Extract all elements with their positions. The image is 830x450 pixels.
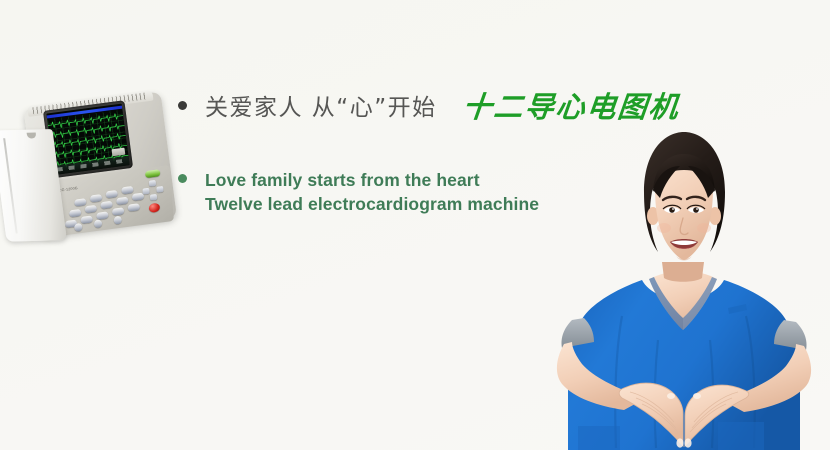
bullet-green-icon — [178, 174, 187, 183]
subline-english: Love family starts from the heart Twelve… — [205, 168, 539, 216]
keypad-key[interactable] — [121, 186, 133, 194]
keypad-dpad-up[interactable] — [149, 180, 156, 187]
keypad-key[interactable] — [106, 190, 118, 198]
keypad-key[interactable] — [100, 201, 112, 209]
paper-tray-seam — [3, 138, 18, 233]
keypad-stop-button[interactable] — [149, 203, 161, 213]
keypad-key[interactable] — [90, 194, 102, 202]
keypad-start-button[interactable] — [145, 169, 160, 178]
product-name-chinese: 十二导心电图机 — [460, 84, 681, 126]
keypad-round-key[interactable] — [74, 223, 83, 232]
keypad-key[interactable] — [112, 207, 124, 215]
keypad-key[interactable] — [85, 205, 97, 213]
keypad-key[interactable] — [132, 193, 144, 201]
keypad-key[interactable] — [80, 215, 92, 223]
device-screen — [46, 104, 129, 175]
ecg-device-image: ECG-1200G — [0, 96, 174, 244]
paper-tray-latch[interactable] — [27, 132, 37, 138]
promo-banner: ECG-1200G — [0, 0, 830, 450]
keypad-key[interactable] — [69, 209, 81, 217]
keypad-round-key[interactable] — [94, 219, 103, 228]
nurse-photo — [550, 130, 818, 450]
keypad-key[interactable] — [128, 203, 140, 211]
keypad-dpad-right[interactable] — [156, 186, 163, 193]
keypad-dpad-down[interactable] — [150, 194, 157, 201]
headline-chinese: 关爱家人 从“心”开始 — [205, 88, 437, 122]
keypad-key[interactable] — [116, 197, 128, 205]
keypad-round-key[interactable] — [113, 216, 122, 225]
headline-row-chinese: 关爱家人 从“心”开始 十二导心电图机 — [178, 84, 718, 126]
keypad-key[interactable] — [74, 198, 86, 206]
subline-english-line2: Twelve lead electrocardiogram machine — [205, 194, 539, 214]
nurse-head — [644, 132, 725, 261]
nurse-scrub-top — [568, 262, 800, 450]
subline-english-line1: Love family starts from the heart — [205, 170, 480, 190]
bullet-dark-icon — [178, 101, 187, 110]
keypad-key[interactable] — [96, 211, 108, 219]
